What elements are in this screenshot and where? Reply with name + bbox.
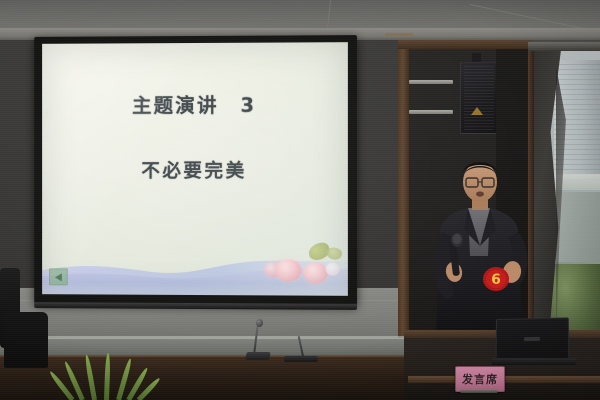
wood-trim-top — [398, 40, 532, 49]
front-desk-top-edge — [0, 336, 404, 339]
slide-previous-button[interactable] — [49, 268, 68, 285]
microphone-head-icon — [256, 319, 263, 327]
rose-icon — [303, 262, 327, 283]
speaker-badge: 6 — [483, 267, 509, 291]
badge-number: 6 — [491, 272, 501, 288]
microphone-base — [284, 356, 318, 362]
leaf-icon — [104, 353, 111, 400]
window-building-secondary — [556, 192, 600, 262]
wall-light-strip — [409, 110, 453, 114]
rose-icon — [275, 259, 301, 281]
front-desk-front — [0, 357, 404, 400]
leaf-icon — [84, 354, 97, 400]
wall-speaker — [460, 62, 498, 134]
slide-flower-decoration — [259, 243, 344, 290]
laptop-logo-icon — [524, 337, 540, 341]
potted-plant — [64, 352, 154, 400]
projector-screen-frame: 主题演讲 3 不必要完美 — [34, 35, 357, 305]
speaker-logo-icon — [471, 107, 483, 115]
beam-marking — [385, 33, 413, 36]
projected-slide: 主题演讲 3 不必要完美 — [42, 42, 348, 296]
slide-subtitle: 不必要完美 — [42, 157, 348, 183]
chair[interactable] — [4, 312, 48, 368]
rose-highlight-icon — [326, 263, 340, 276]
speaker-grille-icon — [464, 66, 494, 130]
presentation-room-photo: 主题演讲 3 不必要完美 — [0, 0, 600, 400]
wall-light-strip — [409, 80, 453, 84]
triangle-left-icon — [55, 273, 62, 281]
desk-sign-stand — [460, 389, 498, 393]
window-frame-top — [528, 42, 600, 51]
laptop-base — [492, 358, 577, 365]
slide-title: 主题演讲 3 — [42, 88, 348, 118]
microphone-base — [245, 352, 270, 360]
wood-trim-left — [398, 40, 409, 340]
desk-sign-text: 发言席 — [462, 371, 498, 387]
